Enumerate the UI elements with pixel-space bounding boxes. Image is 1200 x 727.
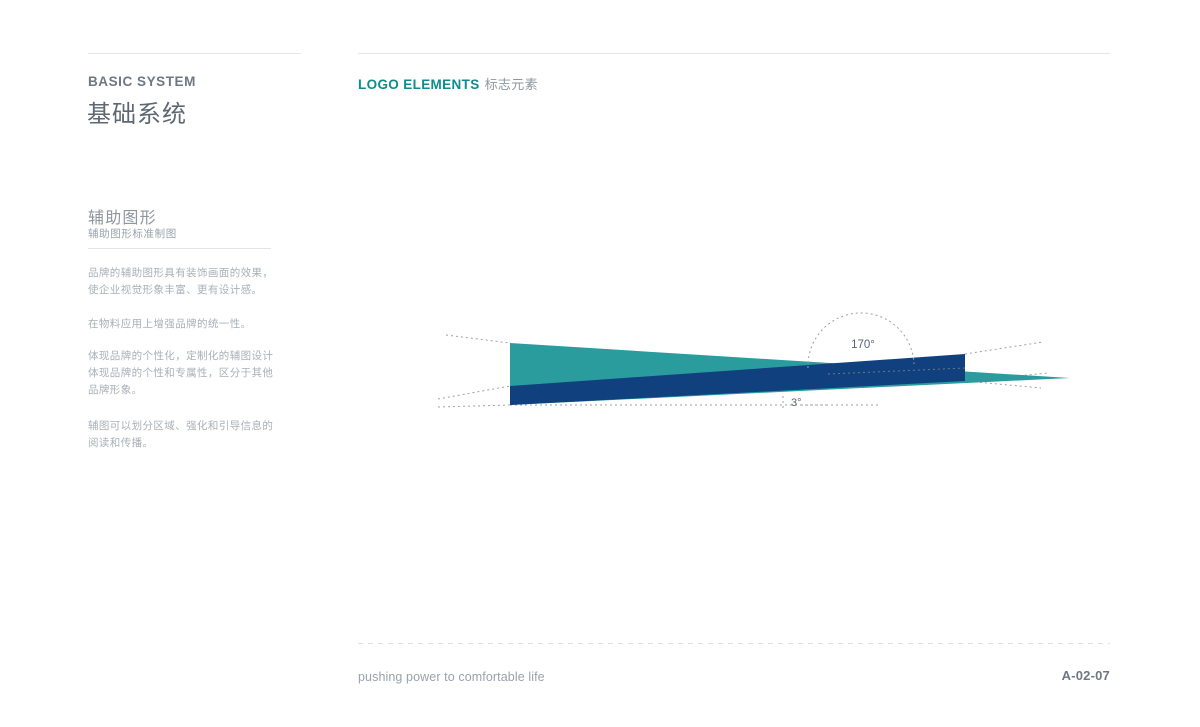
block-subtitle: 辅助图形标准制图 (88, 226, 177, 241)
content-heading: LOGO ELEMENTS标志元素 (358, 74, 538, 93)
footer-page-code: A-02-07 (1062, 668, 1110, 683)
body-paragraph: 在物料应用上增强品牌的统一性。 (88, 316, 288, 333)
guide-lines-left (438, 335, 510, 407)
content-heading-en: LOGO ELEMENTS (358, 77, 480, 92)
page-title: 基础系统 (87, 94, 187, 129)
logo-element-diagram: 170° 3° (358, 120, 1110, 620)
block-title: 辅助图形 (88, 204, 157, 228)
body-paragraph: 体现品牌的个性化，定制化的辅图设计 体现品牌的个性和专属性，区分于其他 品牌形象… (88, 348, 288, 399)
angle-label-170: 170° (851, 339, 875, 351)
body-paragraph: 辅图可以划分区域、强化和引导信息的 阅读和传播。 (88, 418, 288, 452)
header-rule-right (358, 53, 1110, 54)
body-paragraph: 品牌的辅助图形具有装饰画面的效果， 使企业视觉形象丰富、更有设计感。 (88, 265, 288, 299)
header-rule-left (88, 53, 301, 54)
block-divider (88, 248, 271, 249)
section-eyebrow: BASIC SYSTEM (88, 74, 196, 89)
angle-label-3: 3° (791, 397, 802, 409)
footer-tagline: pushing power to comfortable life (358, 670, 545, 684)
footer-divider (358, 643, 1110, 644)
content-heading-cn: 标志元素 (485, 77, 538, 92)
